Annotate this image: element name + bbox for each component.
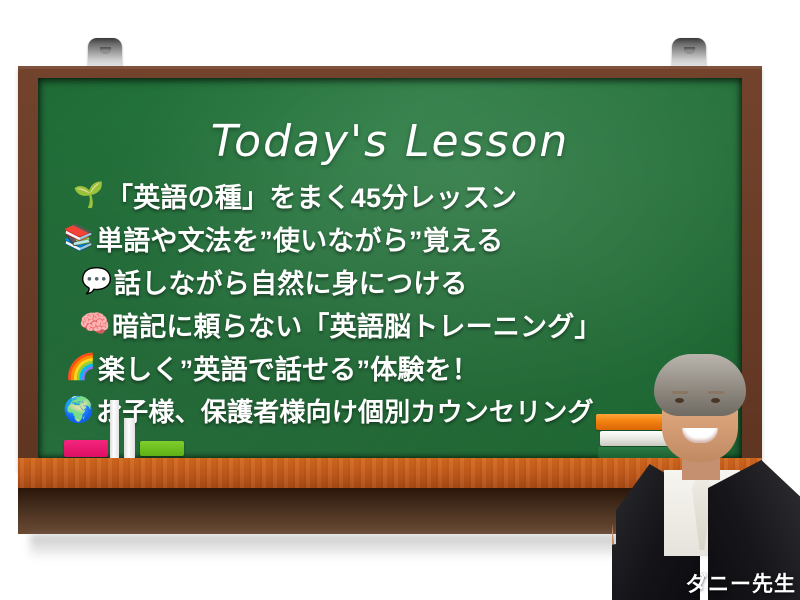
teacher-brow-right bbox=[708, 391, 724, 394]
globe-icon: 🌍 bbox=[62, 398, 96, 423]
lesson-point-text: 「英語の種」をまく45分レッスン bbox=[106, 176, 517, 215]
lesson-point-text: 話しながら自然に身につける bbox=[114, 262, 468, 301]
board-title: Today's Lesson bbox=[38, 116, 742, 167]
lesson-point-row: 📚 単語や文法を”使いながら”覚える bbox=[38, 217, 742, 260]
rainbow-icon: 🌈 bbox=[64, 355, 98, 380]
chalk-stick-short bbox=[124, 418, 135, 458]
speech-balloon-icon: 💬 bbox=[80, 269, 114, 294]
books-icon: 📚 bbox=[62, 226, 96, 251]
teacher-eye-left bbox=[675, 398, 684, 403]
teacher-photo: ダニー先生 bbox=[612, 352, 800, 600]
lesson-point-text: お子様、保護者様向け個別カウンセリング bbox=[96, 392, 594, 429]
lesson-point-text: 単語や文法を”使いながら”覚える bbox=[96, 219, 503, 258]
brain-icon: 🧠 bbox=[78, 312, 112, 337]
teacher-eye-right bbox=[711, 398, 720, 403]
teacher-caption: ダニー先生 bbox=[612, 568, 796, 598]
lesson-point-text: 楽しく”英語で話せる”体験を！ bbox=[98, 348, 479, 387]
teacher-hair bbox=[654, 354, 746, 416]
chalk-stick-tall bbox=[110, 400, 119, 458]
eraser-green bbox=[140, 441, 184, 456]
lesson-point-text: 暗記に頼らない「英語脳トレーニング」 bbox=[112, 305, 602, 344]
lesson-point-row: 🌱 「英語の種」をまく45分レッスン bbox=[38, 174, 742, 217]
lesson-blackboard-slide: Today's Lesson 🌱 「英語の種」をまく45分レッスン 📚 単語や文… bbox=[0, 0, 800, 600]
eraser-pink bbox=[64, 440, 108, 457]
teacher-brow-left bbox=[672, 391, 688, 394]
lesson-point-row: 🧠 暗記に頼らない「英語脳トレーニング」 bbox=[38, 303, 742, 346]
seedling-icon: 🌱 bbox=[72, 183, 106, 208]
lesson-point-row: 💬 話しながら自然に身につける bbox=[38, 260, 742, 303]
